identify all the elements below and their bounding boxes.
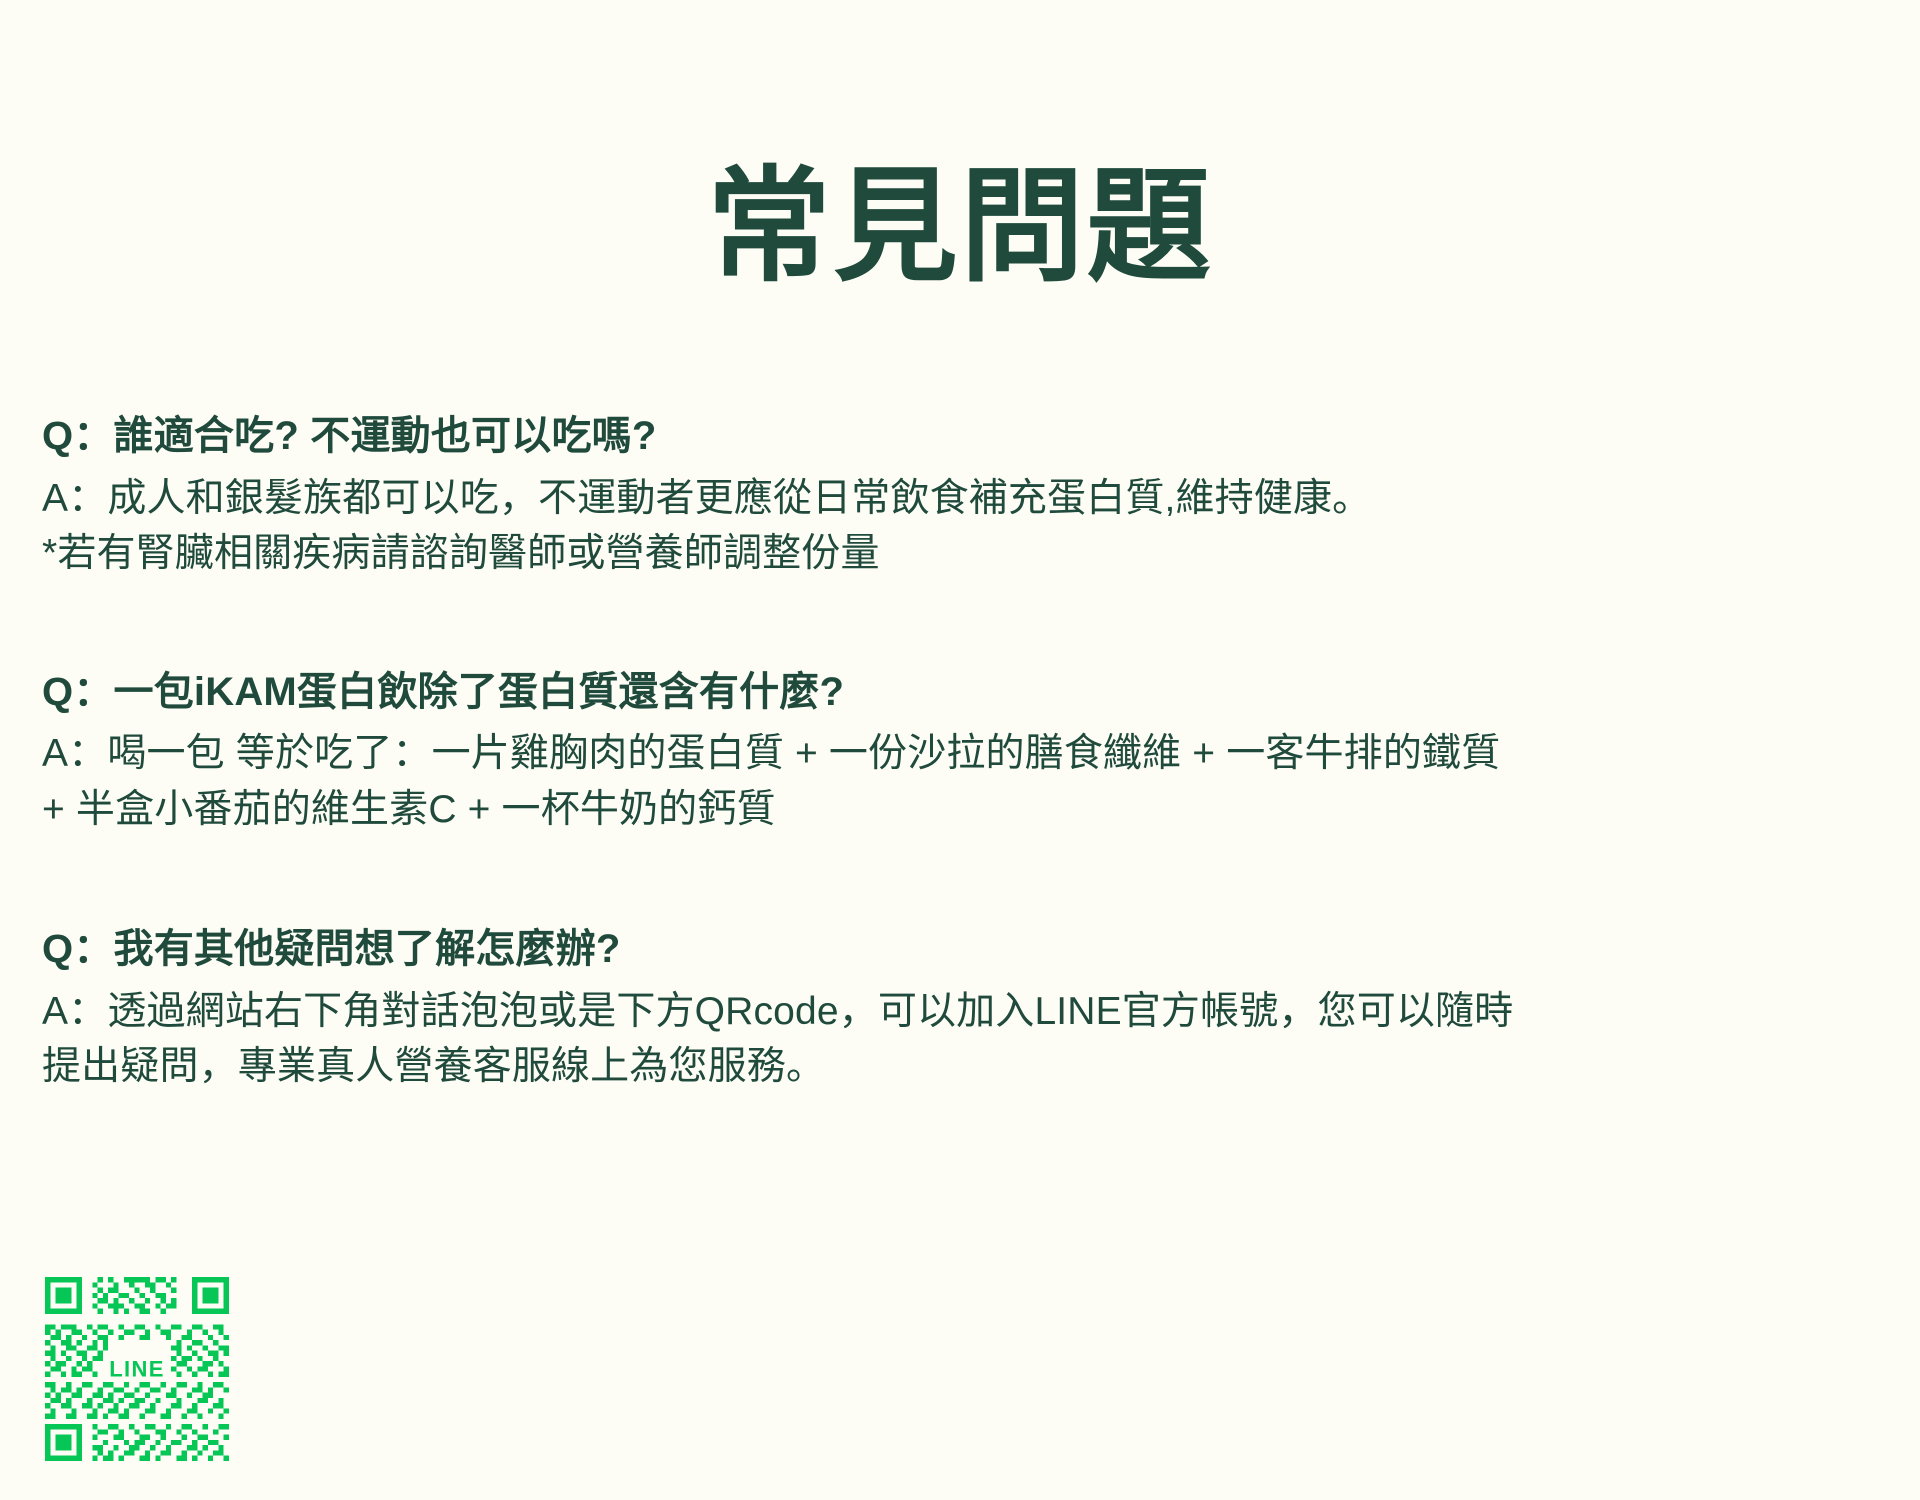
faq-answer-note: *若有腎臟相關疾病請諮詢醫師或營養師調整份量 [42, 526, 1878, 581]
faq-item: Q：一包iKAM蛋白飲除了蛋白質還含有什麼? A：喝一包 等於吃了：一片雞胸肉的… [42, 666, 1878, 838]
faq-question: Q：我有其他疑問想了解怎麼辦? [42, 923, 1878, 976]
faq-question: Q：一包iKAM蛋白飲除了蛋白質還含有什麼? [42, 666, 1878, 719]
line-qr-code[interactable]: LINE [40, 1272, 234, 1466]
qr-code-icon: LINE [40, 1272, 234, 1466]
faq-list: Q：誰適合吃? 不運動也可以吃嗎? A：成人和銀髮族都可以吃，不運動者更應從日常… [42, 410, 1878, 1135]
faq-answer-line: A：喝一包 等於吃了：一片雞胸肉的蛋白質 + 一份沙拉的膳食纖維 + 一客牛排的… [42, 726, 1878, 781]
page-title: 常見問題 [0, 161, 1920, 295]
qr-line-wordmark: LINE [109, 1356, 164, 1381]
faq-answer-line: 提出疑問，專業真人營養客服線上為您服務。 [42, 1039, 1878, 1094]
faq-answer-line: A：成人和銀髮族都可以吃，不運動者更應從日常飲食補充蛋白質,維持健康。 [42, 471, 1878, 526]
faq-item: Q：誰適合吃? 不運動也可以吃嗎? A：成人和銀髮族都可以吃，不運動者更應從日常… [42, 410, 1878, 582]
faq-page: 常見問題 Q：誰適合吃? 不運動也可以吃嗎? A：成人和銀髮族都可以吃，不運動者… [0, 0, 1920, 1500]
faq-answer-line: A：透過網站右下角對話泡泡或是下方QRcode，可以加入LINE官方帳號，您可以… [42, 984, 1878, 1039]
faq-question: Q：誰適合吃? 不運動也可以吃嗎? [42, 410, 1878, 463]
faq-answer: A：透過網站右下角對話泡泡或是下方QRcode，可以加入LINE官方帳號，您可以… [42, 984, 1878, 1095]
faq-answer: A：成人和銀髮族都可以吃，不運動者更應從日常飲食補充蛋白質,維持健康。 *若有腎… [42, 471, 1878, 582]
faq-answer: A：喝一包 等於吃了：一片雞胸肉的蛋白質 + 一份沙拉的膳食纖維 + 一客牛排的… [42, 726, 1878, 837]
faq-answer-line: + 半盒小番茄的維生素C + 一杯牛奶的鈣質 [42, 782, 1878, 837]
faq-item: Q：我有其他疑問想了解怎麼辦? A：透過網站右下角對話泡泡或是下方QRcode，… [42, 923, 1878, 1095]
